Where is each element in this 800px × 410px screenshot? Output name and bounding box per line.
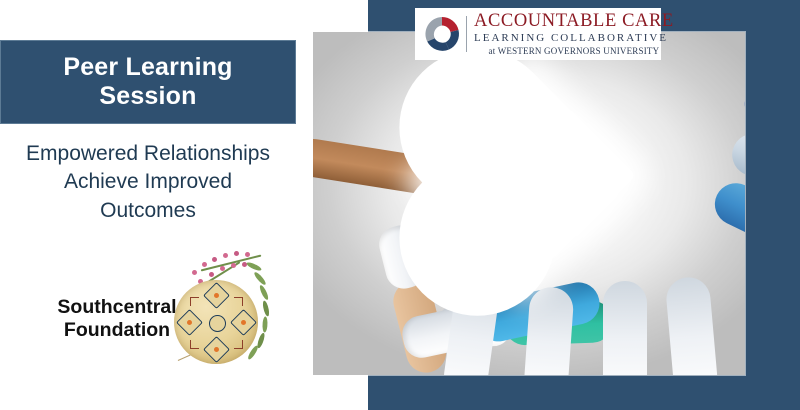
- accountable-care-wordmark: ACCOUNTABLE CARE LEARNING COLLABORATIVE …: [474, 12, 674, 56]
- title-banner: Peer Learning Session: [0, 40, 296, 124]
- swirl-circle-icon: [421, 13, 463, 55]
- hands-forming-heart-photo: [313, 32, 745, 375]
- southcentral-foundation-wordmark: Southcentral Foundation: [47, 296, 187, 343]
- southcentral-foundation-logo: Southcentral Foundation: [40, 248, 290, 374]
- sleeve-bottom-3: [603, 281, 647, 375]
- aclc-line-2: LEARNING COLLABORATIVE: [474, 33, 674, 44]
- page-title: Peer Learning Session: [63, 53, 232, 112]
- aclc-line-1: ACCOUNTABLE CARE: [474, 12, 674, 31]
- logo-divider: [466, 16, 467, 52]
- accountable-care-logo: ACCOUNTABLE CARE LEARNING COLLABORATIVE …: [415, 8, 661, 60]
- aclc-line-3: at WESTERN GOVERNORS UNIVERSITY: [474, 47, 674, 56]
- session-subtitle: Empowered Relationships Achieve Improved…: [0, 140, 296, 225]
- slide-canvas: ACCOUNTABLE CARE LEARNING COLLABORATIVE …: [0, 0, 800, 410]
- sleeve-bottom-2: [523, 286, 575, 375]
- woven-basket-medallion-icon: [174, 280, 258, 364]
